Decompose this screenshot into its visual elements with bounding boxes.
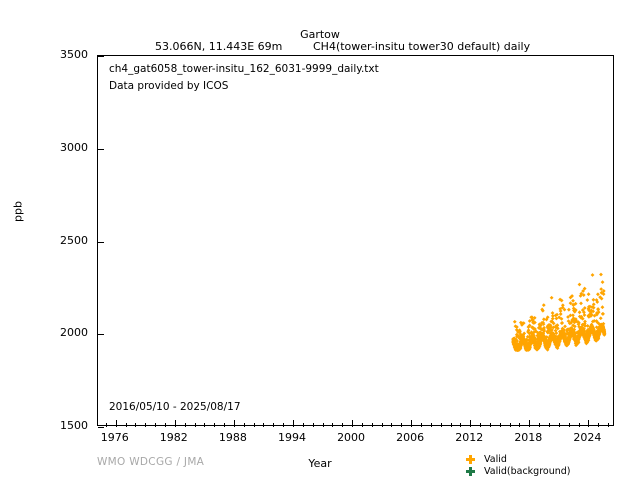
x-tick-label-2000: 2000 xyxy=(328,431,374,444)
y-tick-label-2500: 2500 xyxy=(44,235,88,246)
chart-legend: ValidValid(background) xyxy=(466,453,571,477)
x-tick-label-2006: 2006 xyxy=(387,431,433,444)
x-tick-label-1988: 1988 xyxy=(210,431,256,444)
plot-area: ch4_gat6058_tower-insitu_162_6031-9999_d… xyxy=(97,55,614,426)
credit-text: WMO WDCGG / JMA xyxy=(97,456,204,468)
x-tick-label-1976: 1976 xyxy=(92,431,138,444)
legend-item-1[interactable]: Valid(background) xyxy=(466,465,571,477)
legend-marker-icon xyxy=(466,455,475,464)
chart-subtitle-parameter: CH4(tower-insitu tower30 default) daily xyxy=(313,40,530,53)
x-tick-label-2024: 2024 xyxy=(564,431,610,444)
y-tick-label-3500: 3500 xyxy=(44,49,88,60)
x-tick-label-2018: 2018 xyxy=(505,431,551,444)
y-tick-label-1500: 1500 xyxy=(44,420,88,431)
legend-label: Valid(background) xyxy=(484,466,571,477)
y-tick-label-2000: 2000 xyxy=(44,327,88,338)
y-axis-title: ppb xyxy=(12,182,25,242)
legend-label: Valid xyxy=(484,454,507,465)
y-tick-1500 xyxy=(98,427,104,428)
x-tick-label-2012: 2012 xyxy=(446,431,492,444)
y-tick-label-3000: 3000 xyxy=(44,142,88,153)
chart-subtitle-coordinates: 53.066N, 11.443E 69m xyxy=(155,40,282,53)
x-tick-label-1982: 1982 xyxy=(151,431,197,444)
chart-canvas: Gartow 53.066N, 11.443E 69m CH4(tower-in… xyxy=(0,0,640,480)
legend-marker-icon xyxy=(466,467,475,476)
scatter-series-valid xyxy=(98,56,615,427)
x-tick-label-1994: 1994 xyxy=(269,431,315,444)
legend-item-0[interactable]: Valid xyxy=(466,453,571,465)
